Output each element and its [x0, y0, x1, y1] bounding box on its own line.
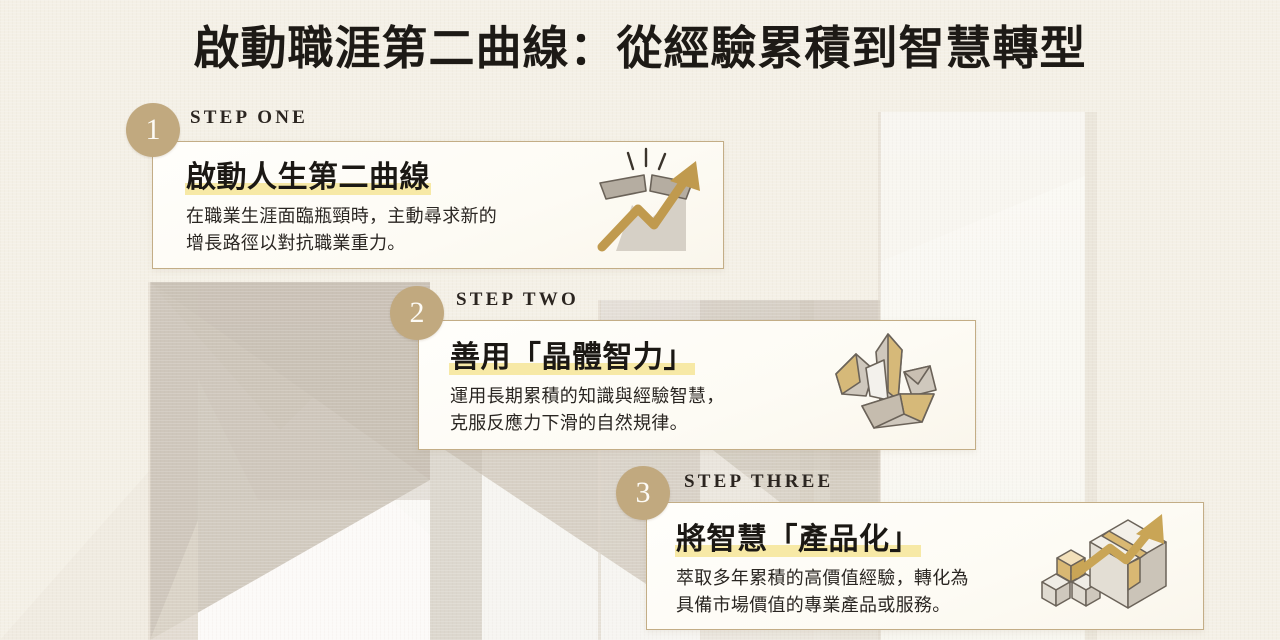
step-label-2: STEP TWO	[456, 289, 579, 311]
step-body-3: 萃取多年累積的高價值經驗，轉化為 具備市場價值的專業產品或服務。	[676, 565, 969, 620]
crystal-cluster-icon	[826, 330, 954, 442]
step-heading-1: 啟動人生第二曲線	[186, 152, 430, 196]
step-number-3: 3	[636, 476, 651, 510]
step-card-1-content: 啟動人生第二曲線 在職業生涯面臨瓶頸時，主動尋求新的 增長路徑以對抗職業重力。	[186, 152, 497, 258]
page-title-rest: ：從經驗累積到智慧轉型	[570, 23, 1087, 74]
step-body-3-line1: 萃取多年累積的高價值經驗，轉化為	[676, 565, 969, 592]
step-label-1: STEP ONE	[190, 107, 308, 129]
step-body-2: 運用長期累積的知識與經驗智慧， 克服反應力下滑的自然規律。	[450, 383, 725, 438]
step-number-badge-1[interactable]: 1	[126, 103, 180, 157]
step-body-2-line2: 克服反應力下滑的自然規律。	[450, 410, 725, 437]
step-label-3: STEP THREE	[684, 471, 833, 493]
step-number-badge-3[interactable]: 3	[616, 466, 670, 520]
step-body-3-line2: 具備市場價值的專業產品或服務。	[676, 592, 969, 619]
step-heading-2: 善用「晶體智力」	[450, 332, 694, 376]
step-number-badge-2[interactable]: 2	[390, 286, 444, 340]
page-title: 啟動職涯第二曲線：從經驗累積到智慧轉型	[190, 12, 1091, 78]
infographic-stage: 啟動職涯第二曲線：從經驗累積到智慧轉型 1 STEP ONE 啟動人生第二曲線 …	[0, 0, 1280, 640]
package-growth-icon	[1036, 508, 1172, 624]
step-body-2-line1: 運用長期累積的知識與經驗智慧，	[450, 383, 725, 410]
breakthrough-arrow-icon	[586, 143, 716, 261]
step-body-1-line2: 增長路徑以對抗職業重力。	[186, 230, 497, 257]
step-body-1: 在職業生涯面臨瓶頸時，主動尋求新的 增長路徑以對抗職業重力。	[186, 203, 497, 258]
page-title-highlight: 啟動職涯第二曲線	[194, 12, 570, 78]
step-number-2: 2	[410, 296, 425, 330]
step-heading-3: 將智慧「產品化」	[676, 514, 920, 558]
step-card-3-content: 將智慧「產品化」 萃取多年累積的高價值經驗，轉化為 具備市場價值的專業產品或服務…	[676, 514, 969, 620]
step-card-2-content: 善用「晶體智力」 運用長期累積的知識與經驗智慧， 克服反應力下滑的自然規律。	[450, 332, 725, 438]
page-title-wrap: 啟動職涯第二曲線：從經驗累積到智慧轉型	[0, 12, 1280, 78]
step-body-1-line1: 在職業生涯面臨瓶頸時，主動尋求新的	[186, 203, 497, 230]
step-number-1: 1	[146, 113, 161, 147]
